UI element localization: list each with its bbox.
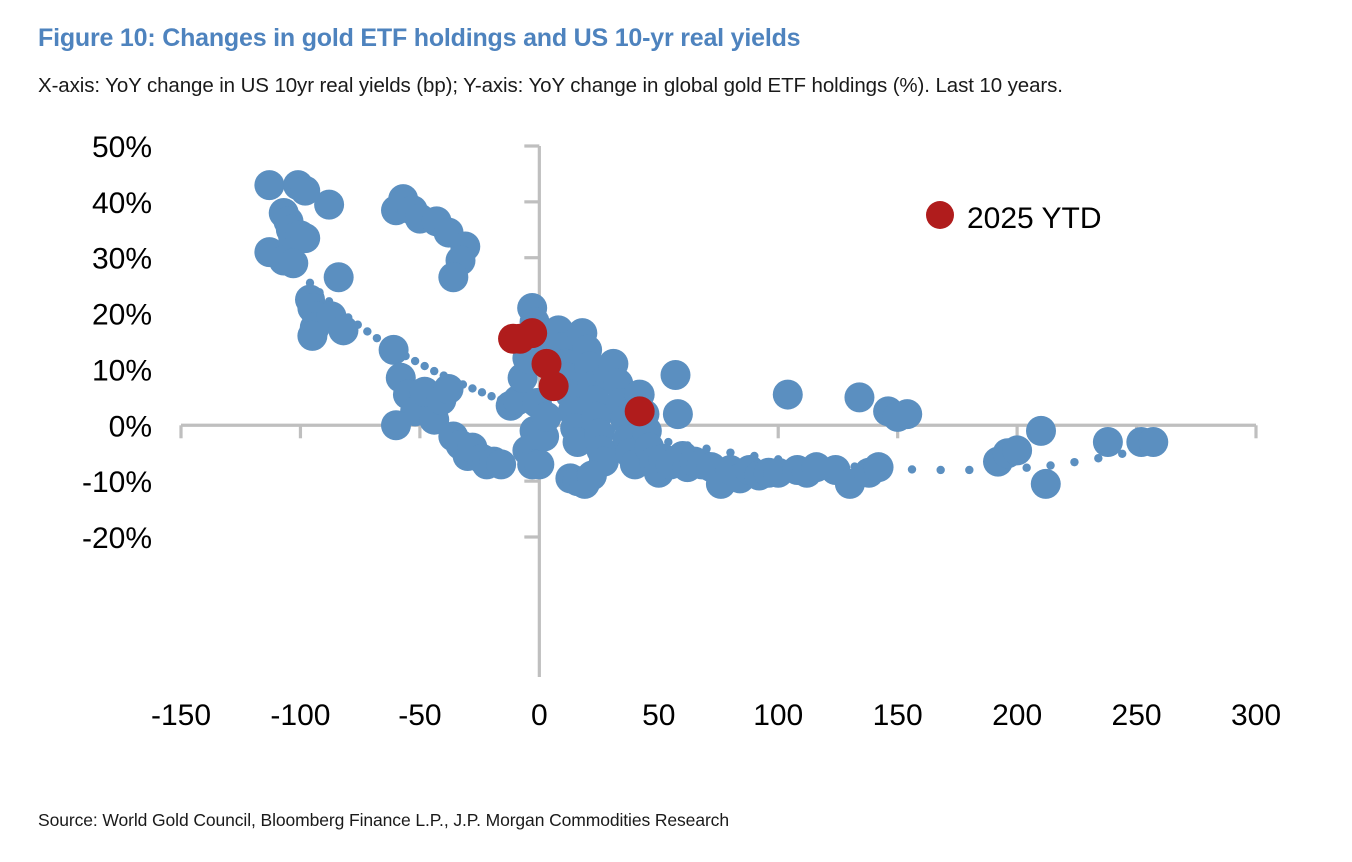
y-tick-label: -20% [82, 522, 152, 555]
data-point [1026, 416, 1056, 446]
trendline-dot [420, 362, 428, 370]
trendline-dot [373, 334, 381, 342]
data-point [1138, 427, 1168, 457]
data-point [278, 248, 308, 278]
trendline-dot [478, 388, 486, 396]
y-tick-label: 10% [92, 354, 152, 387]
data-point [379, 335, 409, 365]
x-tick-labels: -150-100-50050100150200250300 [151, 699, 1281, 732]
data-point [864, 452, 894, 482]
data-point [892, 399, 922, 429]
x-tick-label: 300 [1231, 699, 1281, 732]
trendline-dot [908, 465, 916, 473]
y-tick-label: 0% [109, 410, 152, 443]
data-point [254, 170, 284, 200]
y-tick-label: 40% [92, 187, 152, 220]
data-point [532, 402, 562, 432]
trendline-dot [411, 357, 419, 365]
figure-subtitle: X-axis: YoY change in US 10yr real yield… [38, 74, 1063, 98]
x-tick-label: 0 [531, 699, 548, 732]
x-tick-label: 100 [753, 699, 803, 732]
trendline-dot [468, 384, 476, 392]
x-tick-label: 150 [873, 699, 923, 732]
plot-svg: -20%-10%0%10%20%30%40%50% -150-100-50050… [0, 120, 1352, 760]
data-point [434, 374, 464, 404]
data-point [297, 321, 327, 351]
trendline-dot [936, 466, 944, 474]
data-point [438, 262, 468, 292]
data-point [486, 449, 516, 479]
data-point-ytd [625, 396, 655, 426]
x-tick-label: -150 [151, 699, 211, 732]
y-tick-label: -10% [82, 466, 152, 499]
y-tick-label: 20% [92, 299, 152, 332]
legend-label: 2025 YTD [967, 202, 1102, 235]
trendline-dot [430, 367, 438, 375]
figure-container: Figure 10: Changes in gold ETF holdings … [0, 0, 1352, 862]
data-point [1031, 469, 1061, 499]
figure-source: Source: World Gold Council, Bloomberg Fi… [38, 810, 729, 831]
data-point [1093, 427, 1123, 457]
data-point [661, 360, 691, 390]
trendline-dot [487, 392, 495, 400]
data-point-ytd [539, 371, 569, 401]
data-point [324, 262, 354, 292]
trendline-dot [363, 327, 371, 335]
y-tick-labels: -20%-10%0%10%20%30%40%50% [82, 131, 152, 555]
legend-marker [926, 201, 954, 229]
x-tick-label: 250 [1112, 699, 1162, 732]
data-point-ytd [517, 318, 547, 348]
data-point [577, 461, 607, 491]
data-point [524, 449, 554, 479]
trendline-dot [1022, 464, 1030, 472]
data-point [663, 399, 693, 429]
y-tick-label: 30% [92, 243, 152, 276]
x-tick-label: -100 [270, 699, 330, 732]
data-point [381, 410, 411, 440]
scatter-plot: -20%-10%0%10%20%30%40%50% -150-100-50050… [0, 120, 1352, 760]
x-tick-label: 50 [642, 699, 675, 732]
y-tick-label: 50% [92, 131, 152, 164]
trendline-dot [965, 466, 973, 474]
figure-title: Figure 10: Changes in gold ETF holdings … [38, 24, 800, 53]
data-point [773, 380, 803, 410]
chart-legend: 2025 YTD [926, 201, 1102, 235]
data-point [328, 315, 358, 345]
data-point [1002, 435, 1032, 465]
data-point [314, 190, 344, 220]
trendline-dot [1070, 458, 1078, 466]
x-tick-label: -50 [398, 699, 441, 732]
trendline-dot [1046, 461, 1054, 469]
x-tick-label: 200 [992, 699, 1042, 732]
data-point [844, 382, 874, 412]
